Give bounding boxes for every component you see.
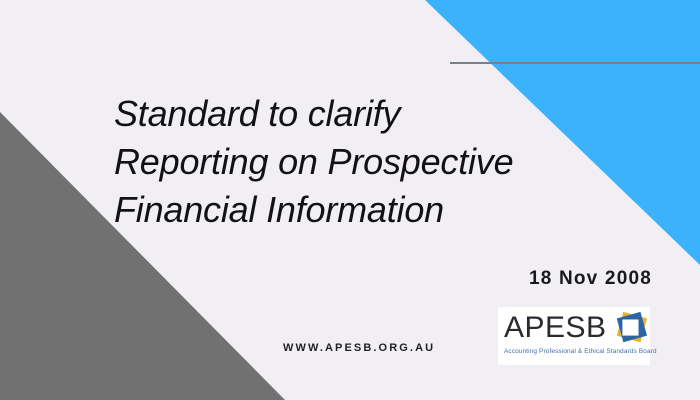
slide-date: 18 Nov 2008 [529, 268, 652, 290]
apesb-logo: APESB Accounting Professional & Ethical … [498, 307, 650, 365]
presentation-slide: Standard to clarify Reporting on Prospec… [0, 0, 700, 400]
website-url: WWW.APESB.ORG.AU [283, 342, 435, 354]
slide-title: Standard to clarify Reporting on Prospec… [114, 90, 659, 234]
apesb-logo-top-row: APESB [504, 311, 644, 345]
apesb-wordmark: APESB [504, 313, 607, 343]
header-divider-rule [450, 62, 700, 64]
apesb-rotated-square-icon [611, 310, 649, 346]
apesb-tagline: Accounting Professional & Ethical Standa… [504, 347, 644, 356]
